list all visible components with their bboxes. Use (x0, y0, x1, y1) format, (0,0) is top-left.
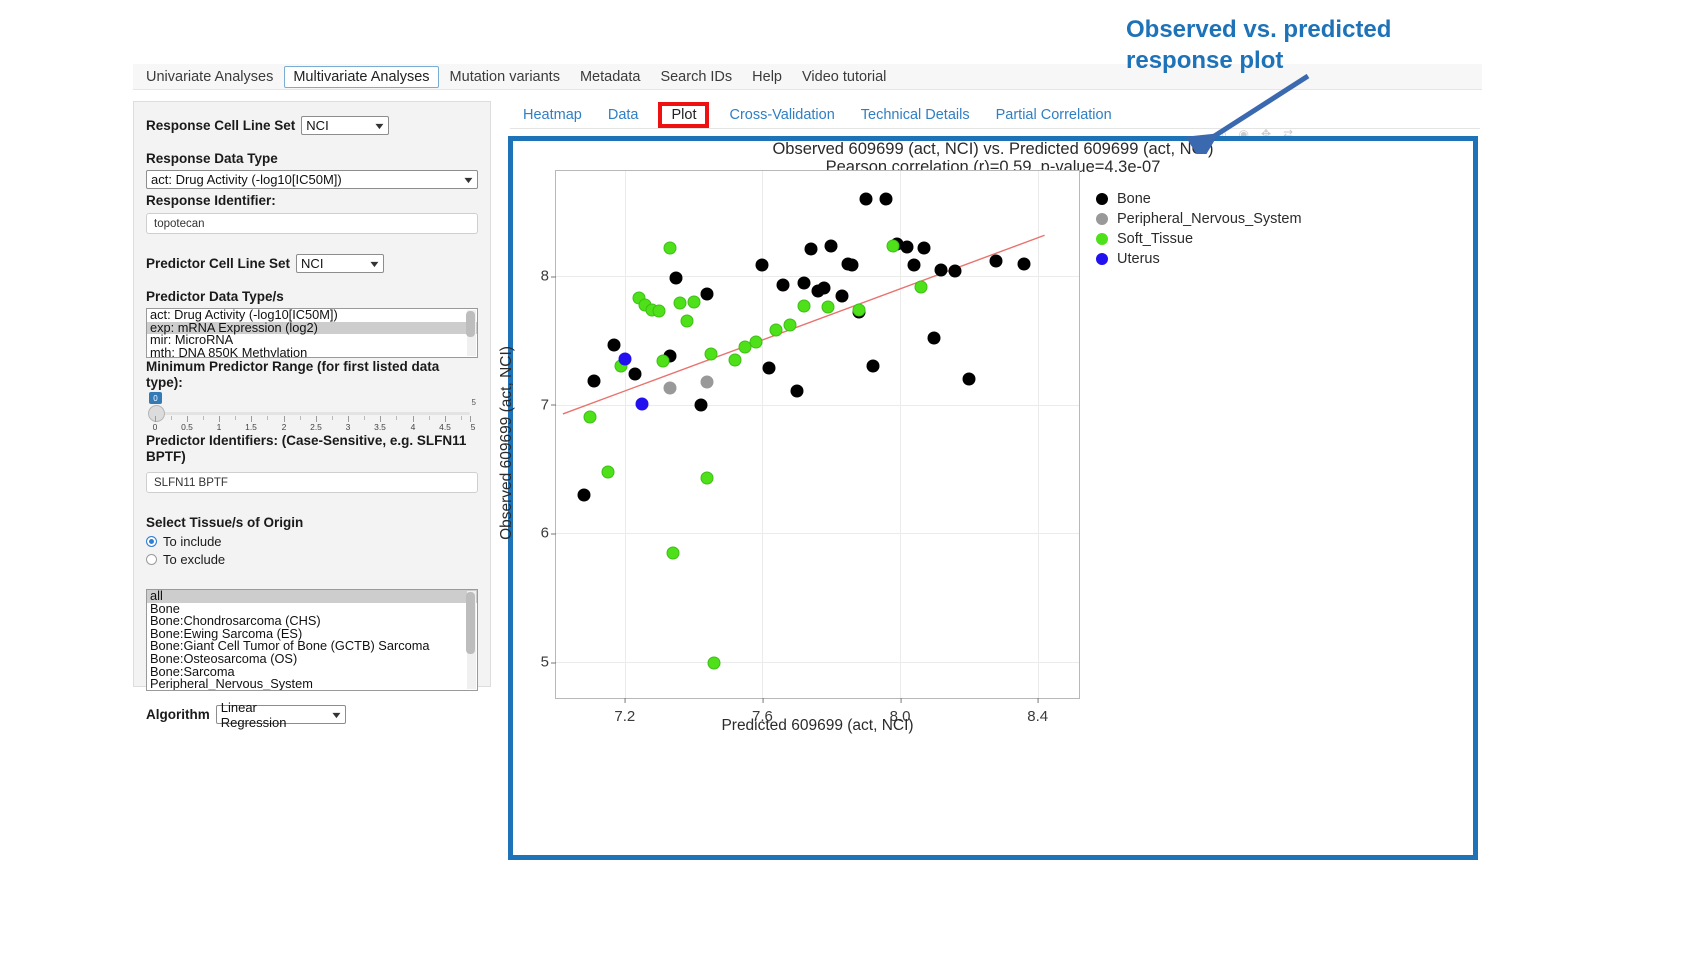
response-cell-line-set-row: Response Cell Line Set NCI ▼ (146, 116, 478, 135)
scrollbar-thumb[interactable] (466, 311, 475, 337)
scatter-point-soft_tissue[interactable] (701, 472, 714, 485)
scatter-point-bone[interactable] (1017, 257, 1030, 270)
listbox-scrollbar[interactable] (467, 591, 476, 689)
scatter-point-bone[interactable] (866, 360, 879, 373)
response-identifier-input[interactable]: topotecan (146, 213, 478, 234)
scatter-point-peripheral_nervous_system[interactable] (701, 375, 714, 388)
slider-tick-label: 4 (411, 422, 416, 432)
scatter-point-soft_tissue[interactable] (749, 335, 762, 348)
algorithm-value: Linear Regression (221, 700, 322, 730)
scatter-point-bone[interactable] (790, 384, 803, 397)
scatter-point-soft_tissue[interactable] (770, 324, 783, 337)
predictor-data-types-listbox[interactable]: act: Drug Activity (-log10[IC50M]) exp: … (146, 308, 478, 358)
scatter-point-bone[interactable] (845, 258, 858, 271)
scatter-point-bone[interactable] (577, 488, 590, 501)
scatter-point-uterus[interactable] (636, 397, 649, 410)
list-item[interactable]: Peripheral_Nervous_System (147, 678, 477, 691)
scatter-point-bone[interactable] (900, 240, 913, 253)
scatter-point-soft_tissue[interactable] (704, 347, 717, 360)
slider-tick-label: 3.5 (374, 422, 386, 432)
scatter-point-soft_tissue[interactable] (887, 239, 900, 252)
scatter-point-bone[interactable] (763, 361, 776, 374)
tissue-selection-label: Select Tissue/s of Origin (146, 515, 478, 531)
plot-panel: Observed 609699 (act, NCI) vs. Predicted… (508, 136, 1478, 860)
scatter-point-soft_tissue[interactable] (914, 280, 927, 293)
y-axis-label: Observed 609699 (act, NCI) (498, 346, 516, 540)
legend-color-swatch (1096, 193, 1108, 205)
scatter-point-bone[interactable] (907, 258, 920, 271)
predictor-cell-line-set-label: Predictor Cell Line Set (146, 256, 290, 272)
predictor-cell-line-set-select[interactable]: NCI ▼ (296, 254, 384, 273)
scatter-point-soft_tissue[interactable] (687, 296, 700, 309)
nav-item-multivariate-analyses[interactable]: Multivariate Analyses (284, 66, 438, 88)
legend-label: Uterus (1117, 251, 1160, 267)
tissue-listbox[interactable]: all Bone Bone:Chondrosarcoma (CHS) Bone:… (146, 589, 478, 691)
result-tabbar: Heatmap Data Plot Cross-Validation Techn… (510, 101, 1480, 129)
tissue-exclude-radio-row[interactable]: To exclude (146, 552, 478, 567)
nav-item-metadata[interactable]: Metadata (571, 66, 649, 88)
slider-tick-label: 4.5 (439, 422, 451, 432)
plot-axes[interactable]: 56787.27.68.08.4 (555, 170, 1080, 699)
slider-tick-label: 3 (346, 422, 351, 432)
algorithm-select[interactable]: Linear Regression ▼ (216, 705, 346, 724)
scatter-point-bone[interactable] (928, 332, 941, 345)
scatter-point-bone[interactable] (918, 242, 931, 255)
slider-tick-label: 0 (153, 422, 158, 432)
scatter-point-bone[interactable] (701, 288, 714, 301)
legend-color-swatch (1096, 253, 1108, 265)
predictor-identifiers-value: SLFN11 BPTF (154, 477, 228, 489)
y-axis-tick-label: 6 (541, 525, 556, 542)
radio-to-exclude[interactable] (146, 554, 157, 565)
legend-item[interactable]: Soft_Tissue (1096, 229, 1302, 249)
scatter-point-bone[interactable] (962, 373, 975, 386)
legend-item[interactable]: Bone (1096, 189, 1302, 209)
scatter-point-bone[interactable] (629, 368, 642, 381)
tab-technical-details[interactable]: Technical Details (848, 104, 983, 126)
nav-item-help[interactable]: Help (743, 66, 791, 88)
predictor-cell-line-set-value: NCI (301, 256, 323, 271)
scatter-point-soft_tissue[interactable] (673, 297, 686, 310)
scatter-point-soft_tissue[interactable] (666, 546, 679, 559)
legend-label: Peripheral_Nervous_System (1117, 211, 1302, 227)
response-identifier-value: topotecan (154, 218, 205, 230)
response-data-type-group: Response Data Type act: Drug Activity (-… (146, 151, 478, 189)
tissue-include-radio-row[interactable]: To include (146, 534, 478, 549)
plot-legend: BonePeripheral_Nervous_SystemSoft_Tissue… (1096, 189, 1302, 269)
scatter-point-bone[interactable] (949, 265, 962, 278)
predictor-identifiers-input[interactable]: SLFN11 BPTF (146, 472, 478, 493)
scatter-point-bone[interactable] (756, 258, 769, 271)
scatter-point-bone[interactable] (587, 374, 600, 387)
response-data-type-label: Response Data Type (146, 151, 478, 167)
response-data-type-value: act: Drug Activity (-log10[IC50M]) (151, 172, 342, 187)
scatter-point-bone[interactable] (990, 254, 1003, 267)
scatter-point-soft_tissue[interactable] (797, 299, 810, 312)
x-axis-label: Predicted 609699 (act, NCI) (555, 717, 1080, 735)
scatter-point-uterus[interactable] (618, 352, 631, 365)
chevron-down-icon: ▼ (373, 121, 386, 131)
legend-item[interactable]: Peripheral_Nervous_System (1096, 209, 1302, 229)
annotation-text: Observed vs. predicted response plot (1126, 14, 1456, 76)
chevron-down-icon: ▼ (330, 710, 343, 720)
y-axis-tick-label: 7 (541, 396, 556, 413)
legend-item[interactable]: Uterus (1096, 249, 1302, 269)
min-predictor-range-slider[interactable]: 0 5 0 (146, 392, 478, 428)
controls-panel: Response Cell Line Set NCI ▼ Response Da… (133, 101, 491, 687)
scatter-point-bone[interactable] (818, 281, 831, 294)
chevron-down-icon: ▼ (368, 259, 381, 269)
predictor-data-types-label: Predictor Data Type/s (146, 289, 478, 305)
scatter-point-soft_tissue[interactable] (708, 657, 721, 670)
algorithm-row: Algorithm Linear Regression ▼ (146, 705, 478, 724)
scatter-point-soft_tissue[interactable] (680, 315, 693, 328)
response-identifier-group: Response Identifier: topotecan (146, 193, 478, 234)
scrollbar-thumb[interactable] (466, 592, 475, 654)
slider-tick-label: 2 (282, 422, 287, 432)
predictor-identifiers-label: Predictor Identifiers: (Case-Sensitive, … (146, 433, 478, 465)
scatter-point-soft_tissue[interactable] (663, 242, 676, 255)
scatter-point-bone[interactable] (804, 243, 817, 256)
scatter-point-soft_tissue[interactable] (821, 301, 834, 314)
min-predictor-range-label: Minimum Predictor Range (for first liste… (146, 359, 478, 391)
scatter-point-bone[interactable] (608, 338, 621, 351)
slider-max-hint: 5 (472, 398, 476, 407)
tissue-selection-group: Select Tissue/s of Origin To include To … (146, 515, 478, 691)
radio-to-exclude-label: To exclude (163, 552, 225, 567)
scatter-point-bone[interactable] (880, 193, 893, 206)
radio-to-include[interactable] (146, 536, 157, 547)
chevron-down-icon: ▼ (462, 175, 475, 185)
scatter-point-soft_tissue[interactable] (584, 410, 597, 423)
nav-item-mutation-variants[interactable]: Mutation variants (441, 66, 569, 88)
scatter-point-bone[interactable] (825, 239, 838, 252)
scatter-point-soft_tissue[interactable] (656, 355, 669, 368)
nav-item-search-ids[interactable]: Search IDs (651, 66, 741, 88)
tab-partial-correlation[interactable]: Partial Correlation (983, 104, 1125, 126)
annotation-arrow-icon (1180, 74, 1320, 154)
radio-to-include-label: To include (163, 534, 222, 549)
slider-value-bubble: 0 (149, 392, 162, 404)
trend-line (556, 171, 1079, 698)
plot-title: Observed 609699 (act, NCI) vs. Predicted… (513, 140, 1473, 159)
min-predictor-range-group: Minimum Predictor Range (for first liste… (146, 359, 478, 428)
scatter-point-bone[interactable] (777, 279, 790, 292)
slider-track[interactable] (154, 412, 470, 415)
tab-plot[interactable]: Plot (660, 104, 707, 126)
tab-data[interactable]: Data (595, 104, 652, 126)
list-item[interactable]: mth: DNA 850K Methylation (147, 347, 477, 359)
predictor-identifiers-group: Predictor Identifiers: (Case-Sensitive, … (146, 433, 478, 493)
response-cell-line-set-label: Response Cell Line Set (146, 118, 295, 134)
scatter-point-soft_tissue[interactable] (601, 465, 614, 478)
legend-color-swatch (1096, 233, 1108, 245)
slider-tick-label: 0.5 (181, 422, 193, 432)
y-axis-tick-label: 8 (541, 268, 556, 285)
predictor-data-types-group: Predictor Data Type/s act: Drug Activity… (146, 289, 478, 358)
scatter-point-bone[interactable] (835, 289, 848, 302)
app-root: Univariate Analyses Multivariate Analyse… (0, 0, 1700, 956)
response-cell-line-set-select[interactable]: NCI ▼ (301, 116, 389, 135)
tab-cross-validation[interactable]: Cross-Validation (716, 104, 847, 126)
algorithm-label: Algorithm (146, 707, 210, 723)
scatter-point-bone[interactable] (670, 271, 683, 284)
scatter-point-soft_tissue[interactable] (728, 353, 741, 366)
scatter-point-soft_tissue[interactable] (783, 319, 796, 332)
list-item[interactable]: all (147, 590, 477, 603)
scatter-point-soft_tissue[interactable] (852, 303, 865, 316)
scatter-point-peripheral_nervous_system[interactable] (663, 382, 676, 395)
listbox-scrollbar[interactable] (467, 310, 476, 356)
nav-item-univariate-analyses[interactable]: Univariate Analyses (137, 66, 282, 88)
response-identifier-label: Response Identifier: (146, 193, 478, 209)
scatter-point-bone[interactable] (797, 276, 810, 289)
legend-label: Soft_Tissue (1117, 231, 1193, 247)
response-data-type-select[interactable]: act: Drug Activity (-log10[IC50M]) ▼ (146, 170, 478, 189)
scatter-point-bone[interactable] (694, 398, 707, 411)
predictor-cell-line-set-row: Predictor Cell Line Set NCI ▼ (146, 254, 478, 273)
tab-heatmap[interactable]: Heatmap (510, 104, 595, 126)
scatter-point-bone[interactable] (935, 263, 948, 276)
scatter-point-bone[interactable] (859, 193, 872, 206)
scatter-point-soft_tissue[interactable] (653, 305, 666, 318)
y-axis-tick-label: 5 (541, 654, 556, 671)
slider-tick-label: 1.5 (245, 422, 257, 432)
nav-item-video-tutorial[interactable]: Video tutorial (793, 66, 895, 88)
slider-tick-label: 2.5 (310, 422, 322, 432)
slider-tick-label: 5 (471, 422, 476, 432)
legend-color-swatch (1096, 213, 1108, 225)
response-cell-line-set-value: NCI (306, 118, 328, 133)
slider-tick-label: 1 (217, 422, 222, 432)
legend-label: Bone (1117, 191, 1151, 207)
